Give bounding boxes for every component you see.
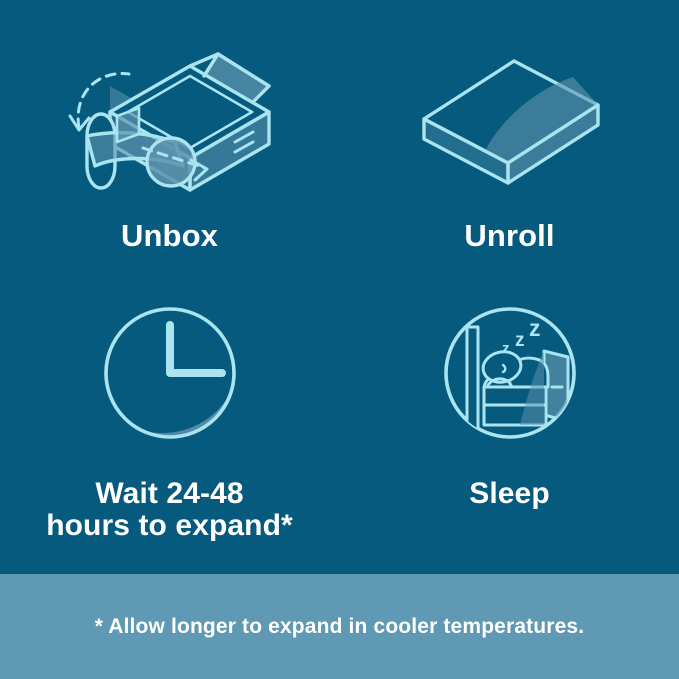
mattress-setup-infographic: Unbox Unroll (0, 0, 679, 679)
zzz-large: z (529, 315, 541, 341)
zzz-medium: z (515, 330, 525, 351)
step-sleep: z z z Sleep (340, 288, 679, 558)
footer-note-text: * Allow longer to expand in cooler tempe… (95, 615, 585, 639)
person-sleeping-in-bed-icon: z z z (440, 303, 580, 443)
unbox-icon-wrap (0, 30, 339, 205)
footer-note-band: * Allow longer to expand in cooler tempe… (0, 574, 679, 679)
unroll-icon-wrap (340, 30, 679, 205)
step-label-unroll: Unroll (340, 219, 679, 252)
step-unbox: Unbox (0, 30, 339, 280)
step-label-wait: Wait 24-48 hours to expand* (0, 478, 339, 543)
step-unroll: Unroll (340, 30, 679, 280)
clock-icon (100, 303, 240, 443)
flat-mattress-icon (410, 43, 610, 193)
zzz-small: z (502, 340, 510, 357)
wait-icon-wrap (0, 288, 339, 458)
step-label-unbox: Unbox (0, 219, 339, 252)
sleep-icon-wrap: z z z (340, 288, 679, 458)
step-wait: Wait 24-48 hours to expand* (0, 288, 339, 558)
open-box-with-rolled-mattress-icon (55, 38, 285, 198)
step-label-sleep: Sleep (340, 478, 679, 510)
steps-area: Unbox Unroll (0, 0, 679, 574)
